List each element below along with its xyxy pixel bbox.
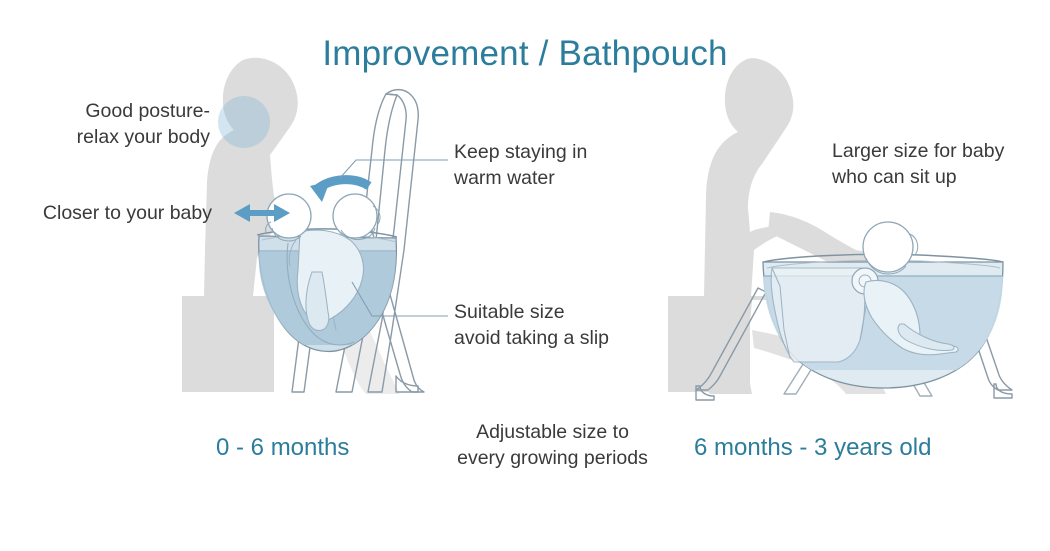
age-label-right: 6 months - 3 years old — [694, 434, 931, 462]
annotation-larger-size: Larger size for baby who can sit up — [832, 138, 1050, 191]
left-baby-head-b — [333, 194, 377, 238]
leader-line-keep-warm — [340, 160, 448, 178]
right-baby-head — [863, 222, 913, 272]
infographic-page: Improvement / Bathpouch Good posture- re… — [0, 0, 1050, 551]
page-title: Improvement / Bathpouch — [0, 34, 1050, 74]
right-illustration — [668, 58, 1012, 400]
annotation-good-posture: Good posture- relax your body — [20, 98, 210, 151]
annotation-closer-to-baby: Closer to your baby — [0, 200, 212, 226]
annotation-keep-warm-water: Keep staying in warm water — [454, 139, 674, 192]
neck-highlight-circle — [218, 96, 270, 148]
annotation-adjustable-size: Adjustable size to every growing periods — [425, 419, 680, 472]
left-illustration — [182, 58, 448, 394]
annotation-suitable-size: Suitable size avoid taking a slip — [454, 299, 684, 352]
age-label-left: 0 - 6 months — [216, 434, 349, 462]
